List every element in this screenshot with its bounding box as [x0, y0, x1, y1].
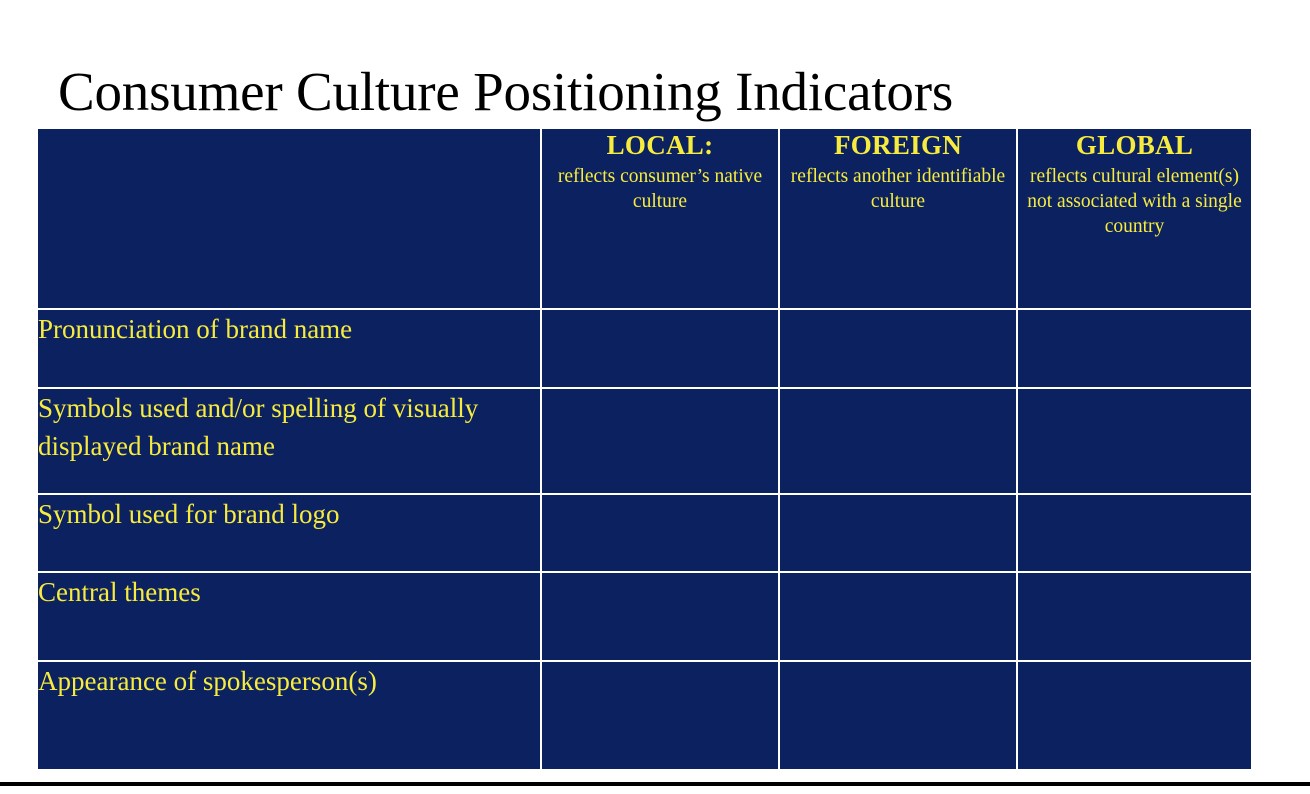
row-label-spokesperson: Appearance of spokesperson(s): [37, 661, 541, 770]
table-row: Symbol used for brand logo: [37, 494, 1252, 573]
cell-pronunciation-local[interactable]: [541, 309, 779, 388]
consumer-culture-positioning-table: LOCAL: reflects consumer’s native cultur…: [36, 127, 1253, 771]
row-label-brand-logo: Symbol used for brand logo: [37, 494, 541, 573]
cell-brand-logo-local[interactable]: [541, 494, 779, 573]
cell-spokesperson-global[interactable]: [1017, 661, 1252, 770]
slide-canvas: Consumer Culture Positioning Indicators …: [0, 0, 1310, 794]
cell-pronunciation-foreign[interactable]: [779, 309, 1017, 388]
table-header-row: LOCAL: reflects consumer’s native cultur…: [37, 128, 1252, 309]
column-header-foreign-title: FOREIGN: [780, 129, 1016, 161]
row-label-pronunciation: Pronunciation of brand name: [37, 309, 541, 388]
cell-central-themes-global[interactable]: [1017, 572, 1252, 661]
cell-symbols-spelling-global[interactable]: [1017, 388, 1252, 494]
cell-pronunciation-global[interactable]: [1017, 309, 1252, 388]
column-header-local: LOCAL: reflects consumer’s native cultur…: [541, 128, 779, 309]
table-corner-cell: [37, 128, 541, 309]
column-header-global-subtitle: reflects cultural element(s) not associa…: [1018, 164, 1251, 239]
table-header: LOCAL: reflects consumer’s native cultur…: [37, 128, 1252, 309]
table-row: Appearance of spokesperson(s): [37, 661, 1252, 770]
row-label-symbols-spelling: Symbols used and/or spelling of visually…: [37, 388, 541, 494]
cell-central-themes-local[interactable]: [541, 572, 779, 661]
cell-central-themes-foreign[interactable]: [779, 572, 1017, 661]
table-row: Pronunciation of brand name: [37, 309, 1252, 388]
bottom-divider-rule: [0, 782, 1310, 786]
table-row: Symbols used and/or spelling of visually…: [37, 388, 1252, 494]
column-header-local-title: LOCAL:: [542, 129, 778, 161]
row-label-central-themes: Central themes: [37, 572, 541, 661]
cell-brand-logo-global[interactable]: [1017, 494, 1252, 573]
cell-symbols-spelling-local[interactable]: [541, 388, 779, 494]
column-header-global-title: GLOBAL: [1018, 129, 1251, 161]
page-title: Consumer Culture Positioning Indicators: [58, 62, 1258, 122]
cell-symbols-spelling-foreign[interactable]: [779, 388, 1017, 494]
cell-spokesperson-local[interactable]: [541, 661, 779, 770]
table-body: Pronunciation of brand name Symbols used…: [37, 309, 1252, 770]
cell-spokesperson-foreign[interactable]: [779, 661, 1017, 770]
cell-brand-logo-foreign[interactable]: [779, 494, 1017, 573]
table-row: Central themes: [37, 572, 1252, 661]
column-header-global: GLOBAL reflects cultural element(s) not …: [1017, 128, 1252, 309]
column-header-foreign: FOREIGN reflects another identifiable cu…: [779, 128, 1017, 309]
column-header-foreign-subtitle: reflects another identifiable culture: [780, 164, 1016, 214]
column-header-local-subtitle: reflects consumer’s native culture: [542, 164, 778, 214]
